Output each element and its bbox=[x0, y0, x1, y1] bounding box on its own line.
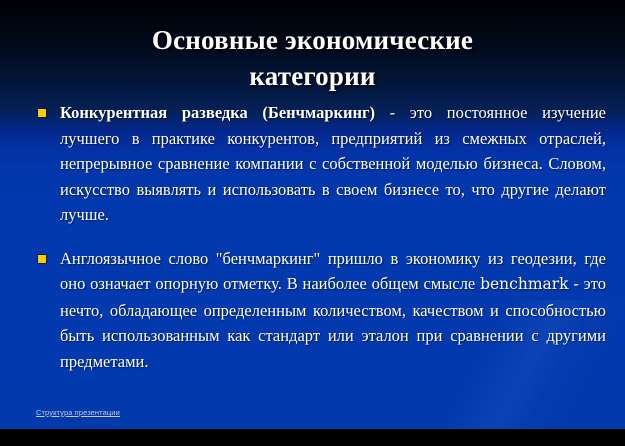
bullet-item-1-lead: Конкурентная разведка (Бенчмаркинг) bbox=[60, 103, 375, 122]
presentation-slide: Основные экономические категории Конкуре… bbox=[0, 0, 625, 446]
slide-bottom-letterbox-bar bbox=[0, 429, 625, 446]
bullet-item-2: Англоязычное слово "бенчмаркинг" пришло … bbox=[34, 246, 606, 375]
slide-title-line-1: Основные экономические bbox=[0, 22, 625, 58]
slide-title: Основные экономические категории bbox=[0, 22, 625, 94]
slide-title-line-2: категории bbox=[0, 58, 625, 94]
slide-body: Конкурентная разведка (Бенчмаркинг) - эт… bbox=[34, 100, 606, 392]
bullet-item-1: Конкурентная разведка (Бенчмаркинг) - эт… bbox=[34, 100, 606, 228]
square-bullet-icon bbox=[38, 109, 46, 117]
square-bullet-icon bbox=[38, 255, 46, 263]
presentation-structure-link[interactable]: Структура презентации bbox=[36, 408, 120, 417]
bullet-item-2-text: Англоязычное слово "бенчмаркинг" пришло … bbox=[60, 246, 606, 375]
slide-footer-link-row: Структура презентации bbox=[36, 402, 120, 420]
bullet-item-1-text: Конкурентная разведка (Бенчмаркинг) - эт… bbox=[60, 100, 606, 228]
bullet-item-2-latin-term: benchmark bbox=[480, 275, 568, 293]
